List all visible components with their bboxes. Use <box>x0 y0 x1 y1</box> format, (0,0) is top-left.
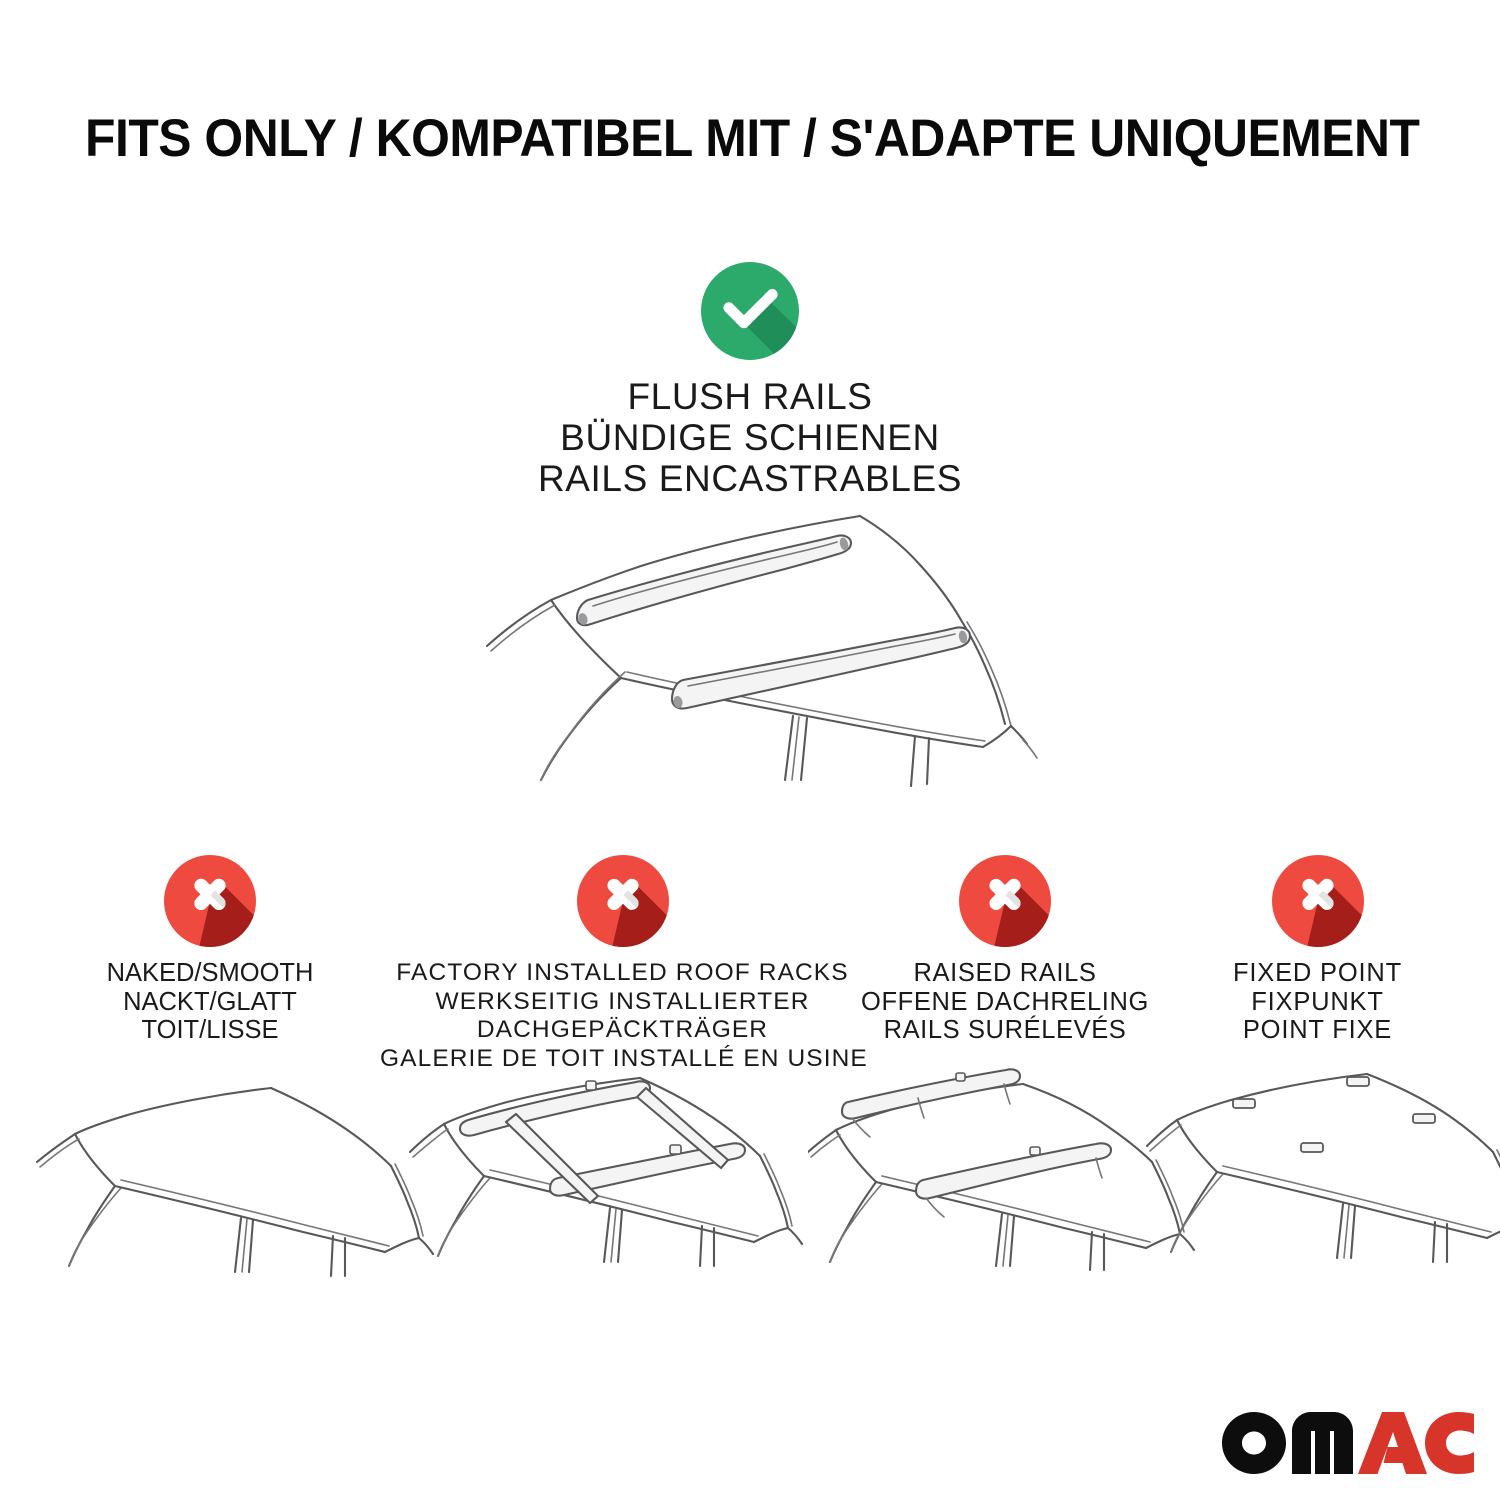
incompatible-labels-raised-rails: RAISED RAILS OFFENE DACHRELING RAILS SUR… <box>845 959 1165 1045</box>
incompatible-item-naked-smooth: NAKED/SMOOTH NACKT/GLATT TOIT/LISSE <box>60 855 360 1045</box>
omac-logo-mark <box>1222 1412 1474 1474</box>
compatible-label-en: FLUSH RAILS <box>0 376 1500 417</box>
green-check-circle-icon <box>701 262 799 360</box>
incompatible-labels-naked-smooth: NAKED/SMOOTH NACKT/GLATT TOIT/LISSE <box>60 959 360 1045</box>
compatibility-infographic: FITS ONLY / KOMPATIBEL MIT / S'ADAPTE UN… <box>0 0 1500 1500</box>
label-de: OFFENE DACHRELING <box>845 988 1165 1017</box>
label-en: FIXED POINT <box>1185 959 1450 988</box>
red-x-circle-icon <box>577 855 669 947</box>
car-roof-flush-rails-illustration <box>455 488 1075 808</box>
label-fr: TOIT/LISSE <box>60 1016 360 1045</box>
label-de-1: WERKSEITIG INSTALLIERTER <box>380 988 865 1017</box>
label-fr: POINT FIXE <box>1185 1016 1450 1045</box>
car-roof-naked-smooth-illustration <box>35 1060 435 1310</box>
label-en: RAISED RAILS <box>845 959 1165 988</box>
red-x-circle-icon <box>1272 855 1364 947</box>
incompatible-labels-fixed-point: FIXED POINT FIXPUNKT POINT FIXE <box>1185 959 1450 1045</box>
compatible-section: FLUSH RAILS BÜNDIGE SCHIENEN RAILS ENCAS… <box>0 262 1500 499</box>
omac-logo <box>1222 1412 1474 1474</box>
label-en: FACTORY INSTALLED ROOF RACKS <box>380 959 865 988</box>
red-x-circle-icon <box>164 855 256 947</box>
incompatible-item-fixed-point: FIXED POINT FIXPUNKT POINT FIXE <box>1185 855 1450 1045</box>
logo-letter-m <box>1292 1412 1353 1474</box>
compatible-labels: FLUSH RAILS BÜNDIGE SCHIENEN RAILS ENCAS… <box>0 376 1500 499</box>
incompatible-item-raised-rails: RAISED RAILS OFFENE DACHRELING RAILS SUR… <box>845 855 1165 1045</box>
label-fr: RAILS SURÉLEVÉS <box>845 1016 1165 1045</box>
car-roof-fixed-point-illustration <box>1145 1048 1500 1298</box>
incompatible-item-factory-roof-racks: FACTORY INSTALLED ROOF RACKS WERKSEITIG … <box>380 855 865 1073</box>
label-de-2: DACHGEPÄCKTRÄGER <box>380 1016 865 1045</box>
logo-letter-a <box>1358 1412 1427 1474</box>
logo-letter-c <box>1425 1412 1474 1474</box>
label-de: NACKT/GLATT <box>60 988 360 1017</box>
compatible-label-de: BÜNDIGE SCHIENEN <box>0 417 1500 458</box>
label-en: NAKED/SMOOTH <box>60 959 360 988</box>
car-roof-factory-roof-racks-illustration <box>408 1048 808 1298</box>
red-x-circle-icon <box>959 855 1051 947</box>
page-title: FITS ONLY / KOMPATIBEL MIT / S'ADAPTE UN… <box>85 108 1420 169</box>
logo-letter-o <box>1222 1412 1286 1474</box>
label-de: FIXPUNKT <box>1185 988 1450 1017</box>
